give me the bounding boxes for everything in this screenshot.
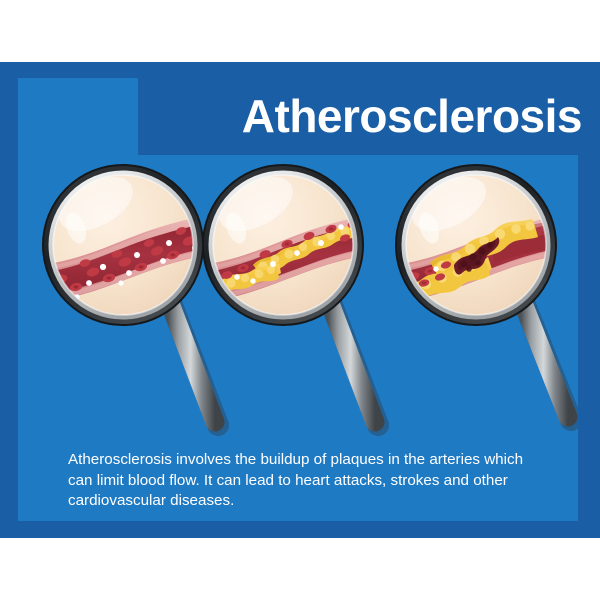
- magnifier-handle-3: [521, 298, 571, 420]
- magnifier-handle-1: [168, 298, 218, 425]
- magnifier-handle-2: [328, 298, 378, 425]
- magnifier-healthy-artery: [28, 165, 223, 330]
- infographic-poster: Atherosclerosis: [0, 0, 600, 600]
- caption-text: Atherosclerosis involves the buildup of …: [68, 450, 538, 512]
- magnifier-blocked-artery: [381, 165, 576, 330]
- magnifier-plaque-buildup: [188, 165, 383, 330]
